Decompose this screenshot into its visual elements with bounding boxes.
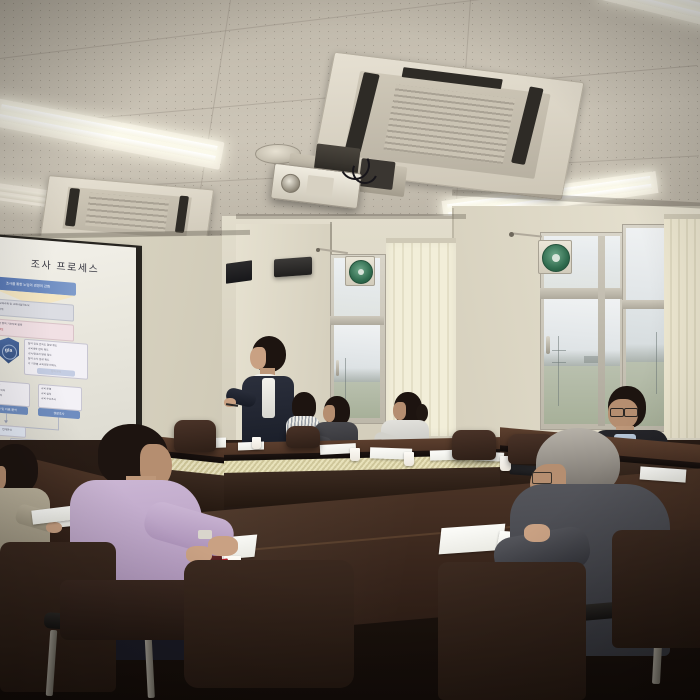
ventilation-fan-box-center [345, 256, 375, 286]
paper-cup [350, 448, 360, 461]
utility-pole [558, 336, 559, 406]
slide-flow-box-left: 교 양성 현황 교육과정 및 목적 교육성과 분석 [0, 380, 30, 408]
flow-label: 연계분석 [0, 427, 25, 433]
participant-6-hand [208, 536, 238, 556]
participant-4-glasses [624, 408, 638, 417]
paper-cup [404, 452, 414, 466]
conduit-fitting [316, 248, 320, 252]
utility-crossarm [552, 362, 566, 363]
logo-top-text [0, 339, 19, 341]
slide-row: 조사를 통한 교육과정 및 교육내실화도모 교육적 실천과제 [0, 297, 74, 321]
window-handle [336, 360, 339, 376]
participant-3-face [393, 402, 406, 420]
chair-empty [286, 426, 320, 448]
presenter-shirt-front [262, 378, 275, 418]
utility-crossarm [552, 350, 566, 351]
participant-6-watch [198, 530, 212, 539]
conference-room-photo: 조사 프로세스 조사를 통한 노임의 경영의 강화 조사를 통한 교육과정 및 … [0, 0, 700, 700]
slide-flow-box-right: 교육 운영 교육 실적 교육 수요조사 [38, 384, 82, 411]
conduit-fitting [509, 232, 514, 237]
slide-bullet-box: 참여 진로 만족도 양성 정도 교육내용 합차 정도 소득/전공과 양성 정도 … [24, 339, 88, 380]
chair-right-far [612, 530, 700, 648]
slide-flow-box-bottom: 연계분석 [0, 424, 26, 438]
blind-valance [664, 214, 700, 219]
participant-5-glasses [532, 472, 552, 484]
ventilation-fan-icon [542, 244, 570, 272]
flow-arrow-icon [4, 420, 8, 423]
chair-foreground-right [438, 562, 586, 700]
presenter-face [250, 347, 266, 369]
window-mullion [330, 316, 384, 325]
ventilation-fan-box-right [538, 240, 572, 274]
window-handle [546, 336, 550, 354]
participant-4-glasses [610, 408, 624, 417]
logo-text: g/a [0, 346, 19, 357]
logo-shield-icon: g/a [0, 337, 19, 365]
slide-title: 조사 프로세스 [0, 252, 136, 278]
slide-row: 교육행정 개선 영역 기초자료 활용 만족도 조사해설 [0, 317, 74, 341]
slide-result-label: 심화 분석 [37, 368, 75, 377]
wall-speaker-left [226, 260, 252, 284]
paper-cup [252, 437, 261, 449]
chair-backrest [184, 560, 354, 688]
blind-valance [386, 238, 456, 243]
ventilation-fan-icon [349, 260, 373, 284]
ceiling-wall-junction [236, 214, 466, 219]
participant-5-hand [524, 524, 550, 542]
projection-screen: 조사 프로세스 조사를 통한 노임의 경영의 강화 조사를 통한 교육과정 및 … [0, 236, 136, 455]
utility-pole [656, 332, 657, 394]
wall-speaker-center [274, 257, 312, 278]
window-mullion [540, 288, 624, 299]
participant-2-face [323, 405, 335, 422]
chair-empty [452, 430, 496, 460]
slide-result-chip: 심화 분석 [37, 368, 75, 377]
